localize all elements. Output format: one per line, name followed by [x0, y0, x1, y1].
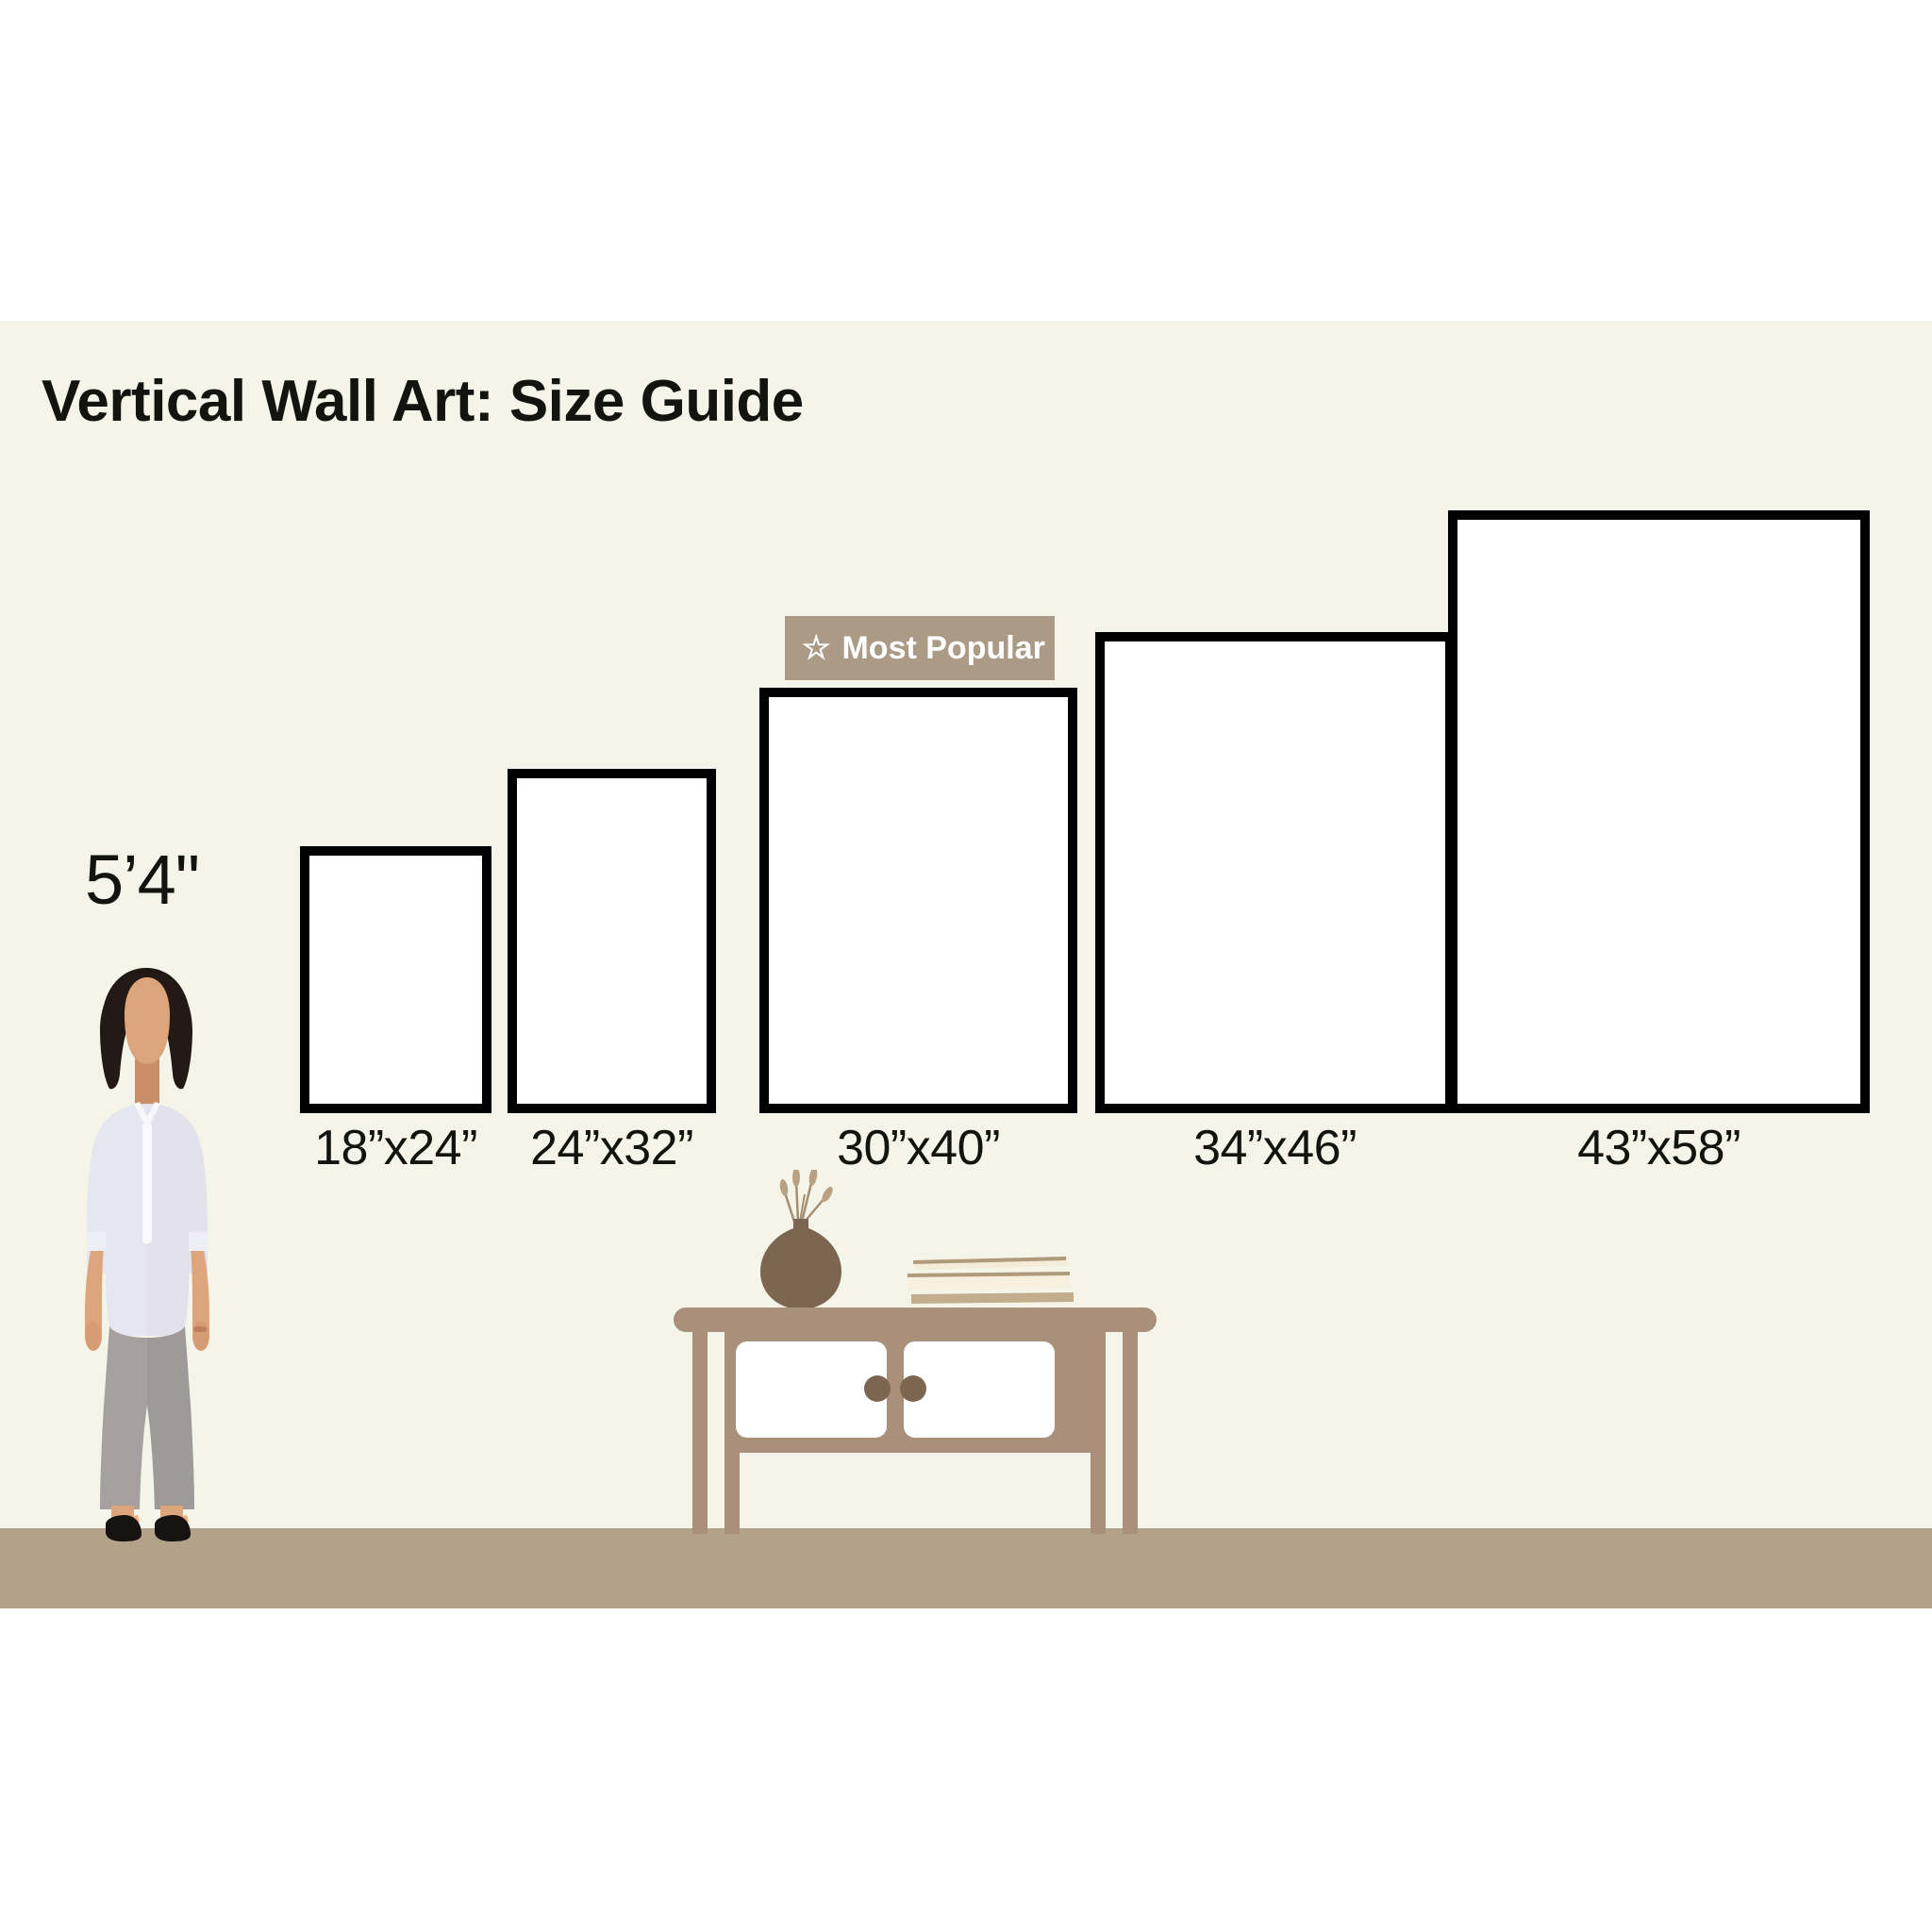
book-stack	[908, 1257, 1074, 1304]
stem-head-2	[792, 1170, 800, 1187]
page-title: Vertical Wall Art: Size Guide	[42, 368, 804, 435]
frame-18x24[interactable]	[300, 846, 491, 1113]
frame-label-43x58: 43”x58”	[1482, 1120, 1836, 1176]
size-guide-canvas: Vertical Wall Art: Size Guide 5’4" 18”x2…	[0, 0, 1932, 1932]
cabinet-knob-left[interactable]	[864, 1375, 891, 1402]
room-scene: Vertical Wall Art: Size Guide 5’4" 18”x2…	[0, 321, 1932, 1608]
vase	[760, 1219, 841, 1309]
most-popular-badge-label: Most Popular	[841, 630, 1044, 667]
stem-2	[796, 1181, 798, 1222]
right-cuff	[189, 1232, 208, 1251]
stem-head-1	[778, 1178, 789, 1196]
right-hand	[192, 1321, 209, 1351]
cabinet-door-left[interactable]	[736, 1341, 887, 1438]
pants-shading	[147, 1326, 194, 1509]
table-top	[674, 1307, 1157, 1332]
frame-label-34x46: 34”x46”	[1098, 1120, 1452, 1176]
console-table	[670, 1170, 1160, 1547]
cabinet-door-right[interactable]	[904, 1341, 1055, 1438]
frame-label-24x32: 24”x32”	[435, 1120, 789, 1176]
blouse-placket	[142, 1123, 152, 1243]
person-height-label: 5’4"	[85, 840, 199, 920]
frame-43x58[interactable]	[1448, 510, 1870, 1113]
book-1-cover	[911, 1292, 1074, 1304]
table-leg-front-right	[1123, 1332, 1138, 1534]
star-outline-icon: ☆	[802, 632, 830, 664]
left-cuff	[87, 1232, 106, 1251]
frame-34x46[interactable]	[1095, 632, 1455, 1113]
stem-1	[785, 1192, 794, 1222]
face	[125, 977, 170, 1064]
left-hand	[85, 1321, 102, 1351]
frame-30x40[interactable]	[759, 688, 1077, 1113]
cabinet-knob-right[interactable]	[900, 1375, 926, 1402]
dried-stems-group	[778, 1170, 834, 1222]
frame-24x32[interactable]	[508, 769, 716, 1113]
cabinet-bottom-rail	[724, 1440, 1106, 1453]
frame-label-30x40: 30”x40”	[741, 1120, 1095, 1176]
woman-figure	[47, 962, 245, 1547]
bracelet	[193, 1326, 207, 1332]
stem-head-3	[808, 1170, 818, 1187]
table-leg-front-left	[692, 1332, 708, 1534]
most-popular-badge[interactable]: ☆ Most Popular	[785, 616, 1055, 680]
